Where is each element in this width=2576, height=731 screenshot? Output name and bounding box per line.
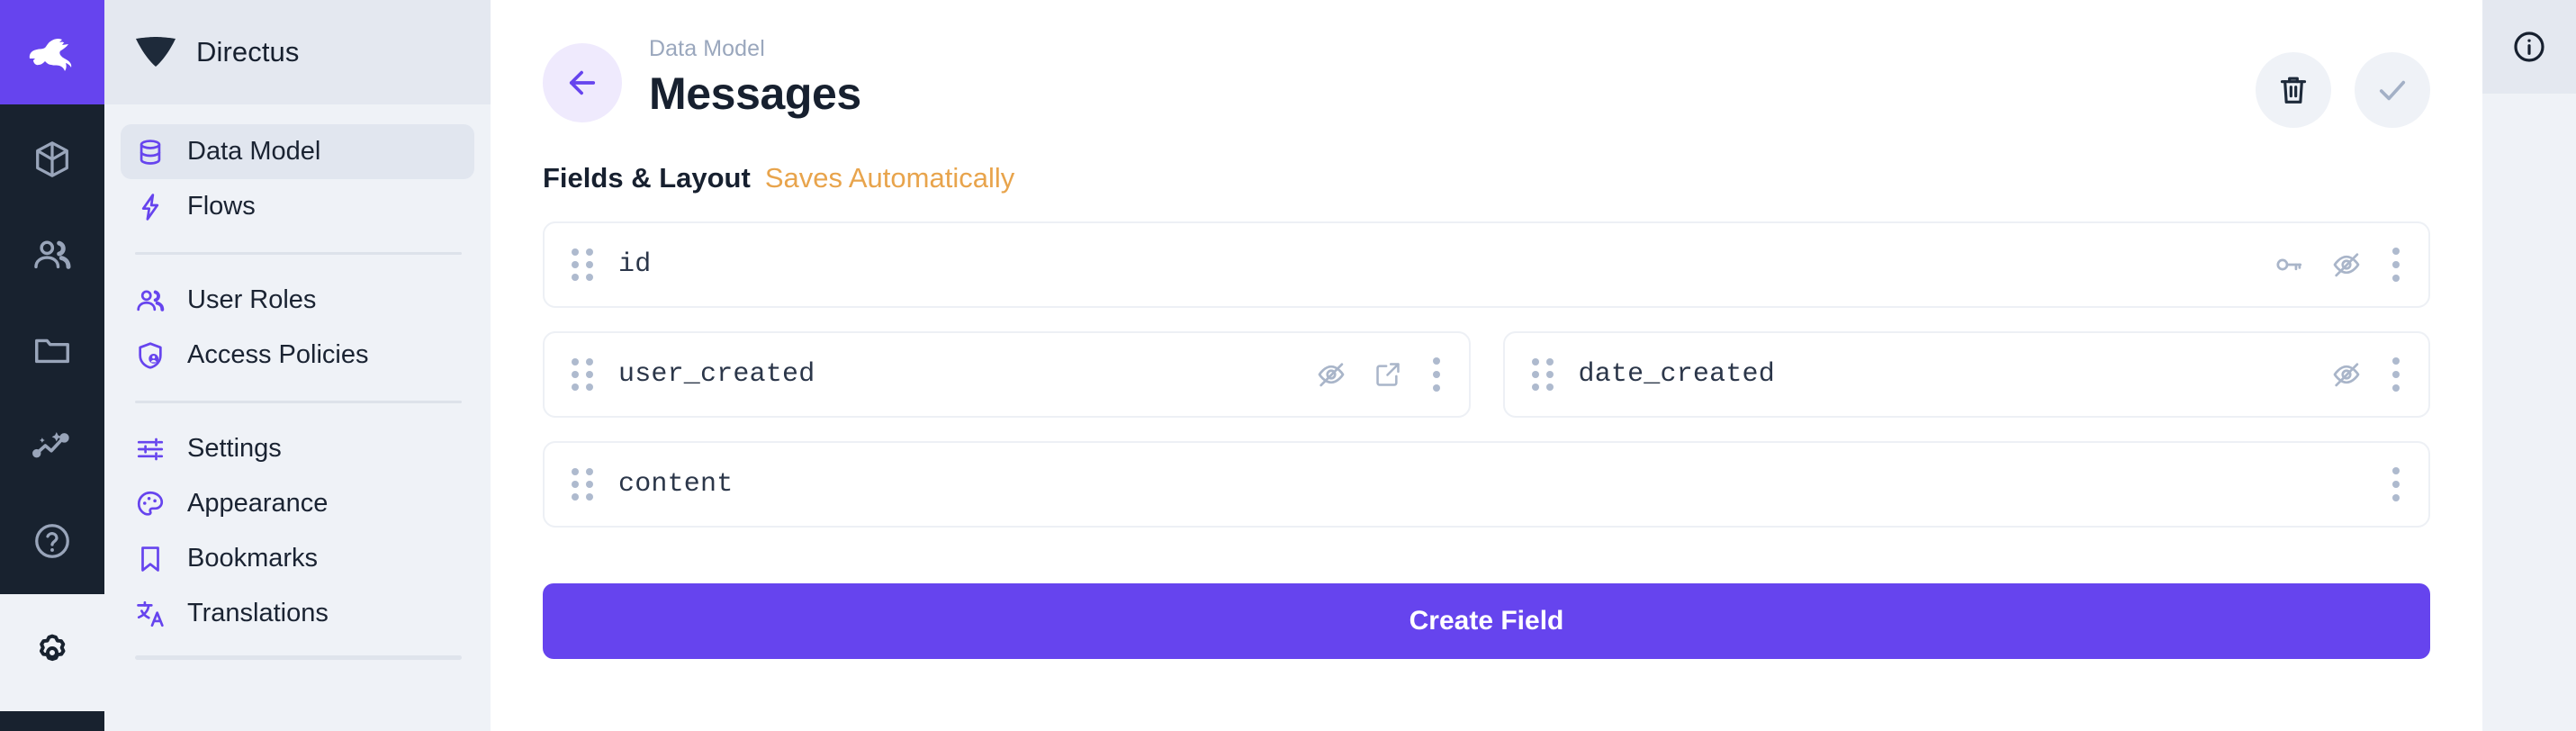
folder-icon: [32, 329, 73, 371]
fields-section: Fields & Layout Saves Automatically id: [491, 162, 2482, 659]
sidebar-item-flows[interactable]: Flows: [121, 179, 474, 234]
kebab-menu-icon[interactable]: [2389, 244, 2403, 285]
field-actions: [2389, 464, 2403, 505]
sidebar-divider: [135, 252, 462, 255]
people-icon: [133, 285, 167, 316]
info-sidebar: [2482, 0, 2576, 731]
field-actions: [2331, 354, 2403, 395]
field-card-user-created[interactable]: user_created: [543, 331, 1471, 418]
sidebar-item-user-roles[interactable]: User Roles: [121, 273, 474, 328]
rail-item-settings[interactable]: [0, 594, 104, 711]
check-icon: [2373, 71, 2411, 109]
directus-cone-icon: [135, 37, 176, 68]
external-link-icon[interactable]: [1374, 360, 1402, 389]
field-name: user_created: [618, 359, 815, 390]
sidebar-item-label: Data Model: [187, 137, 320, 167]
drag-handle-icon[interactable]: [572, 468, 593, 501]
sidebar-item-label: Bookmarks: [187, 544, 318, 573]
save-button[interactable]: [2355, 52, 2430, 128]
cube-icon: [32, 139, 73, 180]
info-circle-icon: [2511, 29, 2547, 65]
sidebar-brand-header: Directus: [104, 0, 491, 104]
section-header: Fields & Layout Saves Automatically: [543, 162, 2430, 194]
sidebar-item-translations[interactable]: Translations: [121, 586, 474, 641]
module-list: [0, 104, 104, 594]
sidebar-item-label: Translations: [187, 599, 329, 628]
breadcrumb[interactable]: Data Model: [649, 36, 861, 62]
field-actions: [2274, 244, 2403, 285]
gear-icon: [30, 630, 75, 675]
directus-app: Directus Data Model Flows: [0, 0, 2576, 731]
kebab-menu-icon[interactable]: [1429, 354, 1444, 395]
delete-collection-button[interactable]: [2256, 52, 2331, 128]
module-rail: [0, 0, 104, 731]
sidebar-nav: Data Model Flows User: [104, 104, 491, 660]
sidebar-item-label: Flows: [187, 192, 256, 221]
sidebar-item-label: Settings: [187, 434, 282, 464]
field-name: content: [618, 469, 733, 500]
page-title: Messages: [649, 68, 861, 120]
field-card-id[interactable]: id: [543, 221, 2430, 308]
field-row: user_created: [543, 331, 2430, 418]
bolt-icon: [133, 192, 167, 222]
sidebar-divider-bottom: [135, 655, 462, 660]
header-actions: [2256, 32, 2430, 128]
help-circle-icon: [32, 520, 73, 562]
insights-chart-icon: [32, 425, 73, 466]
sidebar-item-label: Access Policies: [187, 340, 368, 370]
bookmark-icon: [133, 544, 167, 574]
drag-handle-icon[interactable]: [1532, 358, 1554, 391]
info-toggle-button[interactable]: [2482, 0, 2576, 94]
navigation-sidebar: Directus Data Model Flows: [104, 0, 491, 731]
people-icon: [32, 234, 73, 275]
eye-off-icon[interactable]: [1316, 359, 1347, 390]
sidebar-item-appearance[interactable]: Appearance: [121, 476, 474, 531]
field-name: date_created: [1579, 359, 1775, 390]
palette-icon: [133, 489, 167, 519]
eye-off-icon[interactable]: [2331, 249, 2362, 280]
create-field-button[interactable]: Create Field: [543, 583, 2430, 659]
sidebar-item-label: User Roles: [187, 285, 316, 315]
brand-name: Directus: [196, 36, 300, 68]
section-title: Fields & Layout: [543, 162, 751, 194]
rail-item-help[interactable]: [24, 513, 80, 569]
rail-item-insights[interactable]: [24, 418, 80, 474]
sidebar-item-data-model[interactable]: Data Model: [121, 124, 474, 179]
field-actions: [1316, 354, 1444, 395]
field-card-content[interactable]: content: [543, 441, 2430, 528]
page-header: Data Model Messages: [491, 0, 2482, 162]
shield-user-icon: [133, 340, 167, 371]
autosave-note: Saves Automatically: [765, 162, 1014, 194]
sliders-icon: [133, 434, 167, 465]
sidebar-item-access-policies[interactable]: Access Policies: [121, 328, 474, 383]
rail-footer-spacer: [0, 711, 104, 731]
field-row: id: [543, 221, 2430, 308]
directus-rabbit-logo: [23, 32, 82, 73]
eye-off-icon[interactable]: [2331, 359, 2362, 390]
kebab-menu-icon[interactable]: [2389, 464, 2403, 505]
sidebar-item-bookmarks[interactable]: Bookmarks: [121, 531, 474, 586]
drag-handle-icon[interactable]: [572, 358, 593, 391]
kebab-menu-icon[interactable]: [2389, 354, 2403, 395]
database-icon: [133, 137, 167, 167]
rail-item-user-directory[interactable]: [24, 227, 80, 283]
field-card-date-created[interactable]: date_created: [1503, 331, 2431, 418]
sidebar-divider: [135, 401, 462, 403]
key-icon[interactable]: [2274, 249, 2304, 280]
rail-item-content[interactable]: [24, 131, 80, 187]
sidebar-item-settings[interactable]: Settings: [121, 421, 474, 476]
main-content: Data Model Messages: [491, 0, 2482, 731]
sidebar-item-label: Appearance: [187, 489, 328, 519]
back-button[interactable]: [543, 43, 622, 122]
field-row: content: [543, 441, 2430, 528]
title-block: Data Model Messages: [649, 32, 861, 120]
arrow-left-icon: [563, 64, 601, 102]
drag-handle-icon[interactable]: [572, 248, 593, 281]
field-name: id: [618, 249, 651, 280]
rail-item-file-library[interactable]: [24, 322, 80, 378]
brand-logo[interactable]: [0, 0, 104, 104]
translate-icon: [133, 599, 167, 629]
trash-icon: [2275, 72, 2311, 108]
